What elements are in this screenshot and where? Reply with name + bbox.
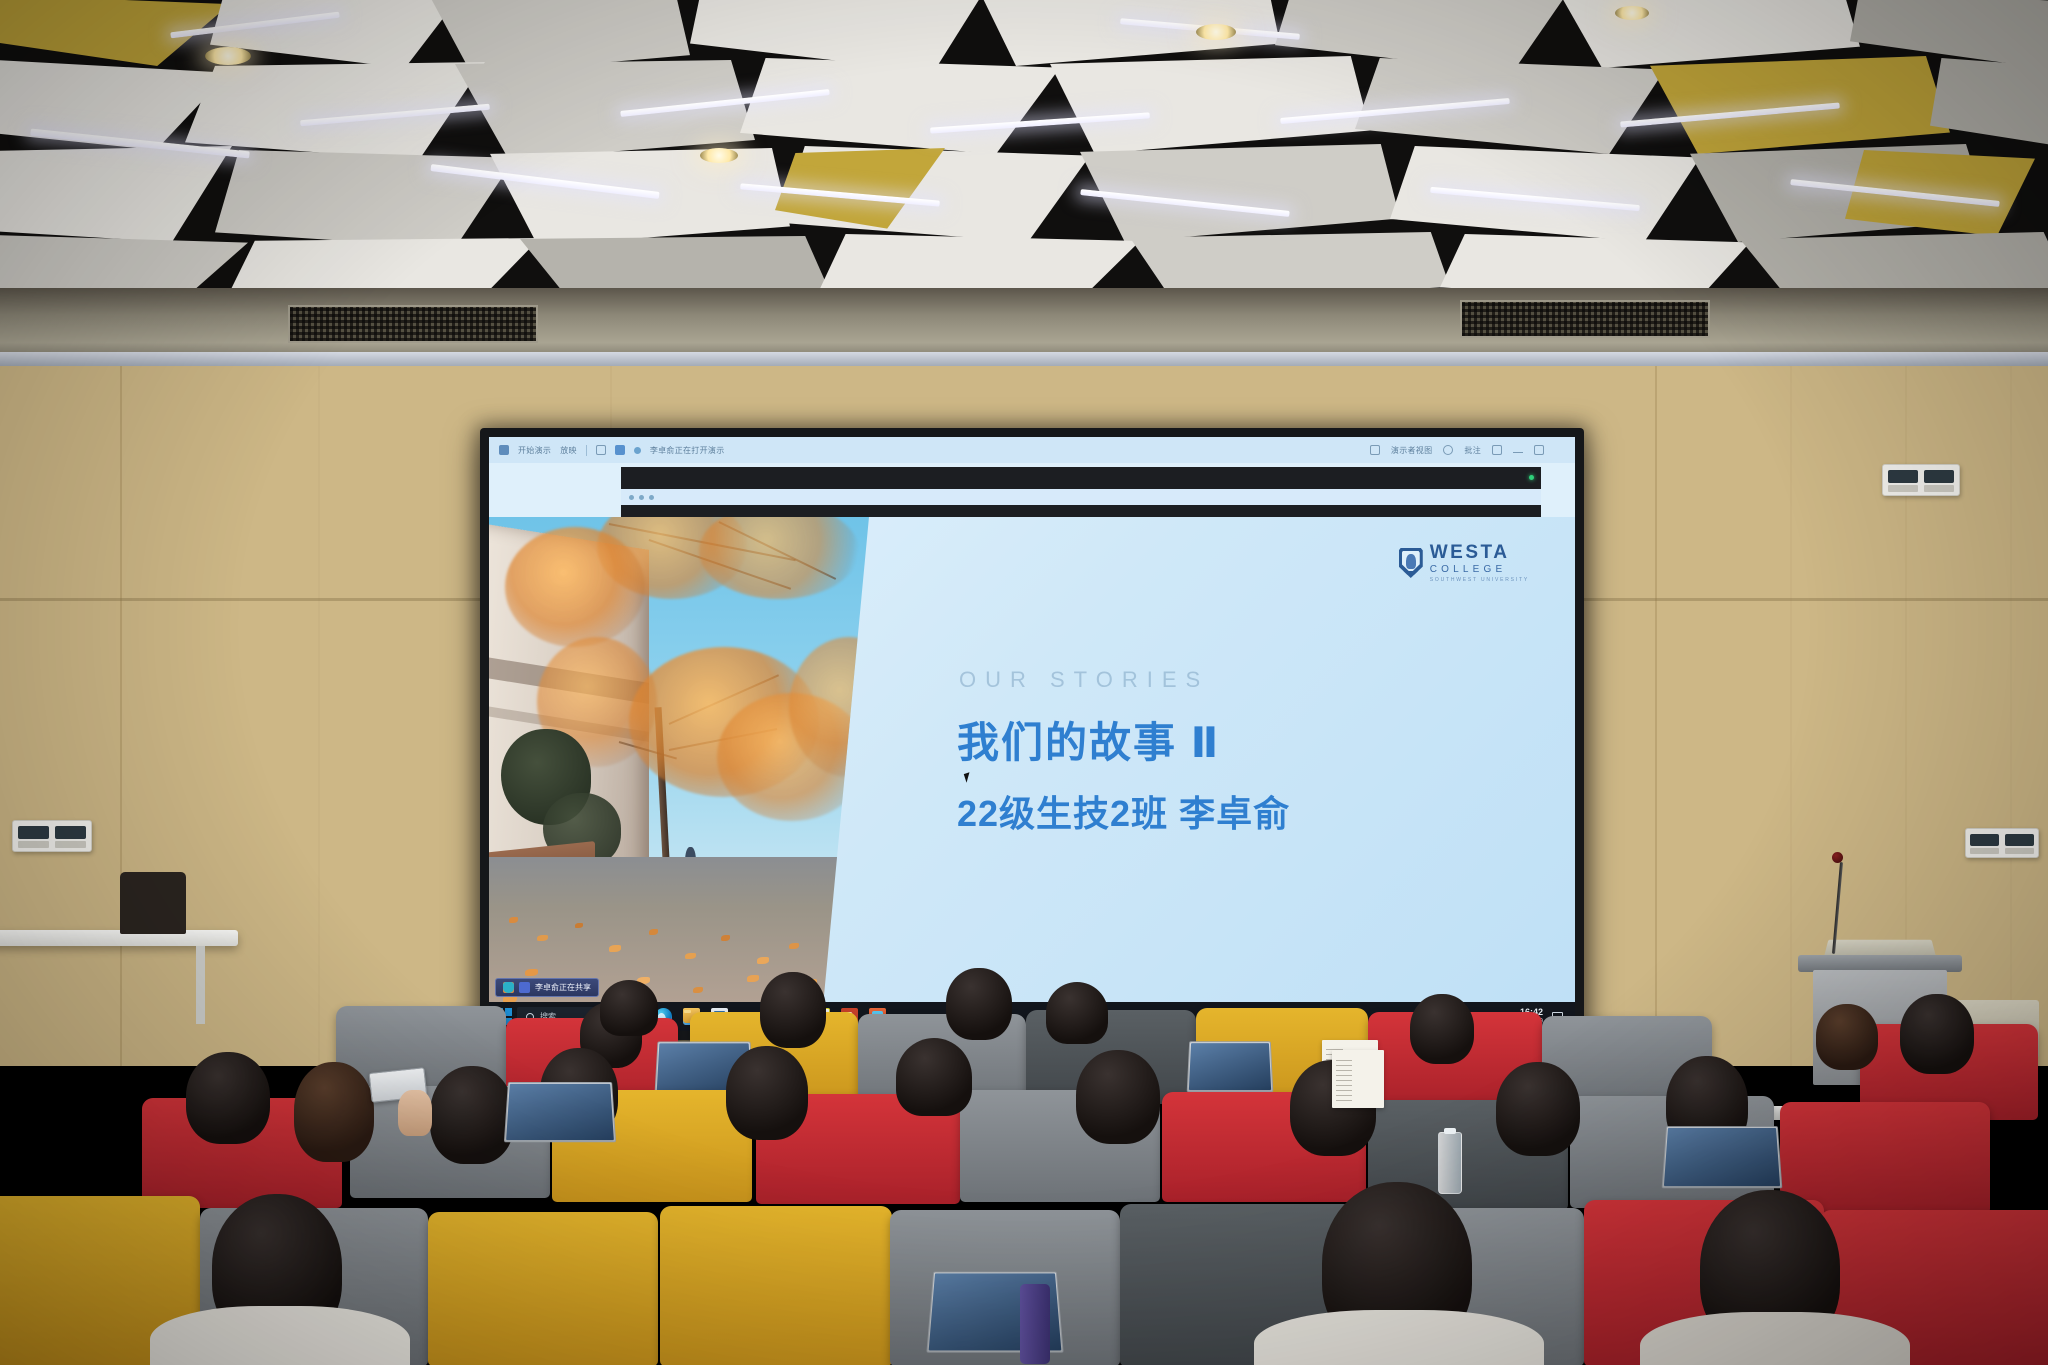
- person-shoulders: [150, 1306, 410, 1365]
- ceiling-panel: [740, 58, 1060, 154]
- person-head: [294, 1062, 374, 1162]
- microphone-icon[interactable]: [503, 982, 514, 993]
- laptop: [1662, 1126, 1783, 1188]
- ppt-ribbon-bottom: [621, 505, 1541, 517]
- restore-icon[interactable]: [1534, 445, 1544, 455]
- ppt-ribbon-top: [621, 467, 1541, 489]
- share-icon[interactable]: [615, 445, 625, 455]
- ceiling-panel: [1355, 58, 1665, 154]
- ppt-tab-dots: [629, 495, 654, 500]
- person-head: [1076, 1050, 1160, 1144]
- ceiling-panel: [215, 150, 515, 248]
- notebook: [1332, 1050, 1384, 1108]
- av-control-panel-podium[interactable]: [1965, 828, 2039, 858]
- av-control-panel-left[interactable]: [12, 820, 92, 852]
- person-shoulders: [1254, 1310, 1544, 1365]
- ceiling-panel: [1050, 56, 1370, 154]
- presentation-slide: WESTA COLLEGE SOUTHWEST UNIVERSITY OUR S…: [489, 517, 1575, 1002]
- share-status-text: 李卓俞正在共享: [535, 982, 591, 993]
- person-shoulders: [1640, 1312, 1910, 1365]
- person-head: [760, 972, 826, 1048]
- share-status-bar[interactable]: 李卓俞正在共享: [495, 978, 599, 997]
- ceiling: [0, 0, 2048, 300]
- person-head: [896, 1038, 972, 1116]
- logo-line3: SOUTHWEST UNIVERSITY: [1430, 578, 1529, 583]
- av-control-panel-right[interactable]: [1882, 464, 1960, 496]
- present-icon[interactable]: [596, 445, 606, 455]
- downlight: [1196, 24, 1236, 40]
- table-leg: [196, 946, 205, 1024]
- person-head: [726, 1046, 808, 1140]
- hand: [398, 1090, 432, 1136]
- ceiling-panel: [490, 148, 790, 246]
- seat: [660, 1206, 892, 1365]
- wps-icon: [499, 445, 509, 455]
- display-screen[interactable]: 开始演示 放映 李卓俞正在打开演示 演示者视图 批注: [489, 437, 1575, 1031]
- ceiling-panel: [455, 60, 755, 160]
- slide-title: 我们的故事 Ⅱ: [957, 709, 1220, 770]
- slide-eyebrow: OUR STORIES: [959, 667, 1209, 693]
- toolbar-item-0[interactable]: 开始演示: [518, 445, 551, 456]
- logo-name: WESTA: [1430, 543, 1529, 562]
- camera-icon[interactable]: [519, 982, 530, 993]
- ceiling-panel: [1560, 0, 1860, 68]
- toolbar-sharing-status: 李卓俞正在打开演示: [650, 445, 725, 456]
- toolbar-presenter-view[interactable]: 演示者视图: [1391, 445, 1433, 456]
- person-head: [186, 1052, 270, 1144]
- fullscreen-icon[interactable]: [1492, 445, 1502, 455]
- toolbar-annotate[interactable]: 批注: [1464, 445, 1481, 456]
- water-bottle: [1438, 1132, 1462, 1194]
- mouse-cursor: [964, 772, 972, 782]
- slide-photo: [489, 517, 869, 1002]
- seat: [428, 1212, 658, 1365]
- ppt-ribbon-mid: [621, 489, 1541, 505]
- lecture-hall-photo: 开始演示 放映 李卓俞正在打开演示 演示者视图 批注: [0, 0, 2048, 1365]
- person-head: [600, 980, 658, 1036]
- person-head: [1046, 982, 1108, 1044]
- slide-subtitle: 22级生技2班 李卓俞: [957, 785, 1290, 837]
- presenter-view-icon[interactable]: [1370, 445, 1380, 455]
- slide-logo: WESTA COLLEGE SOUTHWEST UNIVERSITY: [1399, 543, 1529, 583]
- person-head: [1900, 994, 1974, 1074]
- person-head: [1410, 994, 1474, 1064]
- photo-foliage: [505, 527, 645, 647]
- ceiling-panel: [1930, 58, 2048, 152]
- downlight: [205, 47, 251, 65]
- person-head: [946, 968, 1012, 1040]
- hvac-vent-left: [288, 305, 538, 343]
- person-head: [1816, 1004, 1878, 1070]
- shield-crest-icon: [1399, 548, 1423, 578]
- recording-indicator: [1529, 475, 1534, 480]
- logo-line2: COLLEGE: [1430, 565, 1529, 575]
- side-chair: [120, 872, 186, 934]
- close-icon[interactable]: [1555, 445, 1565, 455]
- side-table-left: [0, 930, 238, 946]
- downlight: [1615, 6, 1649, 20]
- toolbar-divider: [586, 445, 587, 456]
- downlight: [700, 148, 738, 163]
- laptop: [1187, 1041, 1274, 1092]
- bottle-front: [1020, 1284, 1050, 1364]
- wps-toolbar[interactable]: 开始演示 放映 李卓俞正在打开演示 演示者视图 批注: [489, 437, 1575, 463]
- minimize-icon[interactable]: [1513, 447, 1523, 453]
- microphone-head-icon: [1832, 852, 1843, 863]
- laptop: [504, 1082, 616, 1142]
- ceiling-panel: [0, 146, 250, 242]
- annotate-icon[interactable]: [1443, 445, 1453, 455]
- interactive-display[interactable]: 开始演示 放映 李卓俞正在打开演示 演示者视图 批注: [480, 428, 1584, 1040]
- status-dot-icon: [634, 447, 641, 454]
- person-head: [1496, 1062, 1580, 1156]
- hvac-vent-right: [1460, 300, 1710, 338]
- person-head: [430, 1066, 514, 1164]
- toolbar-item-1[interactable]: 放映: [560, 445, 577, 456]
- seat: [1780, 1102, 1990, 1214]
- ceiling-panel: [1390, 146, 1700, 242]
